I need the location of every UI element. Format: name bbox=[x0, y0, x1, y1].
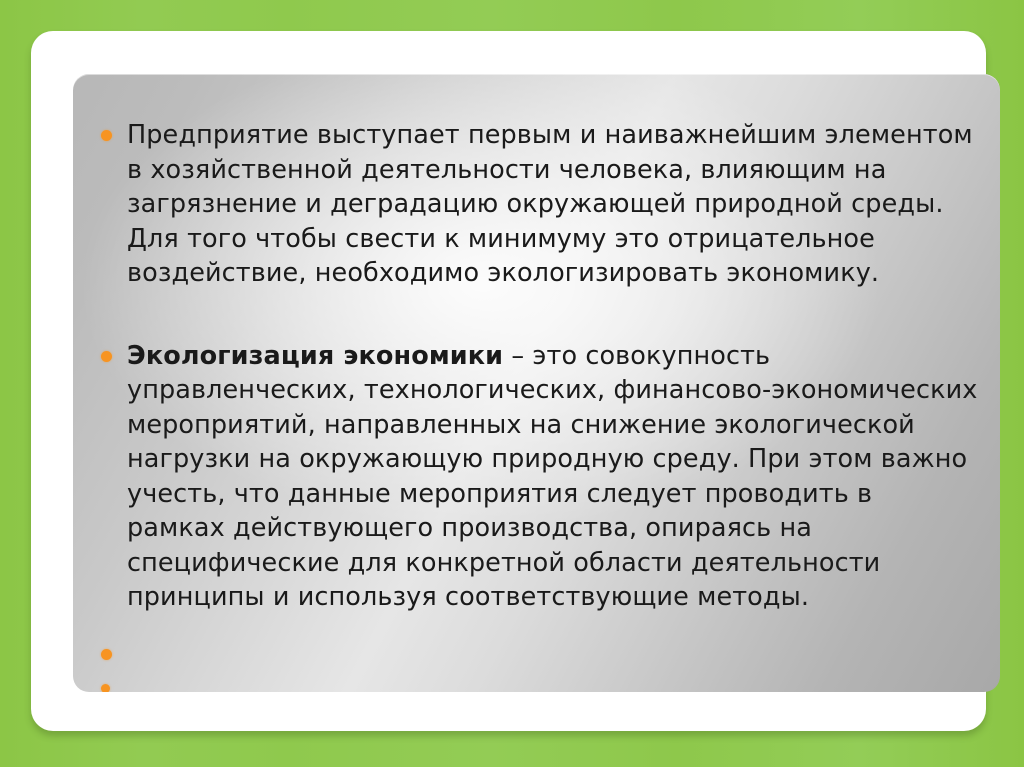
slide-content-card: Предприятие выступает первым и наиважней… bbox=[31, 31, 986, 731]
list-item[interactable]: Экологизация экономики – это совокупност… bbox=[101, 339, 978, 615]
list-item[interactable] bbox=[101, 672, 978, 693]
bullet-dot-icon bbox=[101, 672, 127, 693]
list-item[interactable]: Предприятие выступает первым и наиважней… bbox=[101, 118, 978, 291]
bullet-list: Предприятие выступает первым и наиважней… bbox=[101, 118, 978, 692]
bullet-body-text: – это совокупность управленческих, техно… bbox=[127, 341, 986, 613]
bullet-paragraph: Экологизация экономики – это совокупност… bbox=[127, 339, 978, 615]
bullet-paragraph: Предприятие выступает первым и наиважней… bbox=[127, 118, 978, 291]
bullet-dot-icon bbox=[101, 637, 127, 660]
slide-stage: Предприятие выступает первым и наиважней… bbox=[0, 0, 1024, 767]
bullet-dot-icon bbox=[101, 339, 127, 362]
bullet-lead-text: Экологизация экономики bbox=[127, 341, 503, 371]
slide-body-panel: Предприятие выступает первым и наиважней… bbox=[73, 74, 1000, 692]
bullet-body-text: Предприятие выступает первым и наиважней… bbox=[127, 120, 981, 288]
bullet-dot-icon bbox=[101, 118, 127, 141]
bullet-spacer bbox=[101, 313, 978, 339]
list-item[interactable] bbox=[101, 637, 978, 660]
